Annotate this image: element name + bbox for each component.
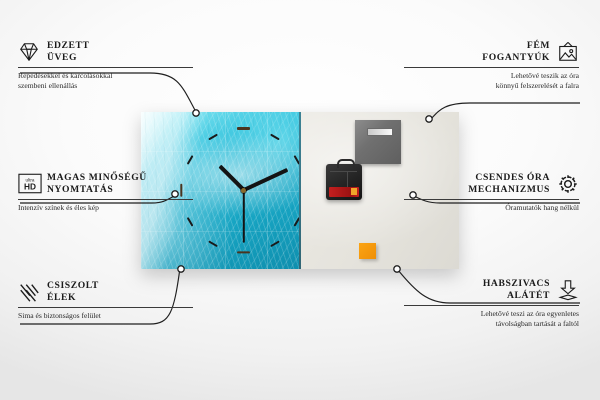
callout-sub-line1: Intenzív színek és éles kép (18, 203, 99, 212)
callout-sub-line1: Sima és biztonságos felület (18, 311, 101, 320)
picture-frame-hanger-icon (557, 41, 579, 63)
metal-hanger-plate (355, 120, 401, 164)
clock-tick (270, 241, 280, 248)
callout-title-line1: MAGAS MINŐSÉGŰ (47, 172, 147, 183)
clock-tick (270, 134, 280, 141)
callout-sub-line2: távolságban tartását a faltól (496, 319, 579, 328)
callout-silent-mechanism[interactable]: CSENDES ÓRA MECHANIZMUS Óramutatók hang … (404, 172, 579, 213)
callout-metal-handles[interactable]: FÉM FOGANTYÚK Lehetővé teszik az óra kön… (404, 40, 579, 91)
clock-tick (237, 251, 250, 253)
mechanism-seam-h (330, 171, 357, 172)
callout-title-line1: HABSZIVACS (483, 278, 550, 289)
callout-title-line1: CSENDES ÓRA (475, 172, 550, 183)
clock-tick (208, 241, 218, 248)
callout-tempered-glass[interactable]: EDZETT ÜVEG Repedésekkel és karcolásokka… (18, 40, 193, 91)
callout-polished-edges[interactable]: CSISZOLT ÉLEK Sima és biztonságos felüle… (18, 280, 193, 321)
callout-title-line1: CSISZOLT (47, 280, 99, 291)
callout-title-line1: EDZETT (47, 40, 90, 51)
foam-spacer-pad (359, 243, 376, 259)
callout-title-line2: ALÁTÉT (507, 290, 550, 301)
ultra-hd-icon: ultra HD (18, 173, 40, 195)
mechanism-bail (337, 159, 355, 168)
callout-sub-line1: Repedésekkel és karcolásokkal (18, 71, 112, 80)
clock-center-hub (241, 188, 246, 193)
diamond-icon (18, 41, 40, 63)
clock-tick (187, 155, 194, 165)
gear-icon (557, 173, 579, 195)
callout-title-line2: FOGANTYÚK (482, 52, 550, 63)
clock-tick (187, 217, 194, 227)
callout-sub-line2: szembeni ellenállás (18, 81, 77, 90)
down-arrow-stack-icon (557, 279, 579, 301)
callout-rule (404, 67, 579, 68)
clock-second-hand (243, 190, 245, 242)
clock-mechanism (326, 164, 362, 200)
callout-title-line2: MECHANIZMUS (468, 184, 550, 195)
panel-edge (299, 112, 301, 269)
hanger-slot (367, 128, 393, 136)
mechanism-seam-v (347, 172, 348, 188)
battery-label (329, 187, 359, 197)
clock-tick (237, 127, 250, 129)
callout-title-line2: ÉLEK (47, 292, 76, 303)
callout-title-line2: NYOMTATÁS (47, 184, 113, 195)
callout-title-line2: ÜVEG (47, 52, 77, 63)
callout-title-line1: FÉM (527, 40, 550, 51)
callout-rule (18, 199, 193, 200)
polished-edges-icon (18, 281, 40, 303)
svg-text:HD: HD (24, 181, 36, 191)
callout-rule (18, 67, 193, 68)
callout-sub-line1: Óramutatók hang nélkül (505, 203, 579, 212)
callout-foam-pad[interactable]: HABSZIVACS ALÁTÉT Lehetővé teszi az óra … (404, 278, 579, 329)
callout-sub-line2: könnyű felszerelését a falra (496, 81, 579, 90)
callout-sub-line1: Lehetővé teszi az óra egyenletes (481, 309, 579, 318)
clock-minute-hand (243, 168, 288, 192)
callout-high-quality-print[interactable]: ultra HD MAGAS MINŐSÉGŰ NYOMTATÁS Intenz… (18, 172, 193, 213)
clock-tick (208, 134, 218, 141)
callout-sub-line1: Lehetővé teszik az óra (511, 71, 579, 80)
infographic-canvas: EDZETT ÜVEG Repedésekkel és karcolásokka… (0, 0, 600, 400)
callout-rule (404, 305, 579, 306)
callout-rule (404, 199, 579, 200)
callout-rule (18, 307, 193, 308)
